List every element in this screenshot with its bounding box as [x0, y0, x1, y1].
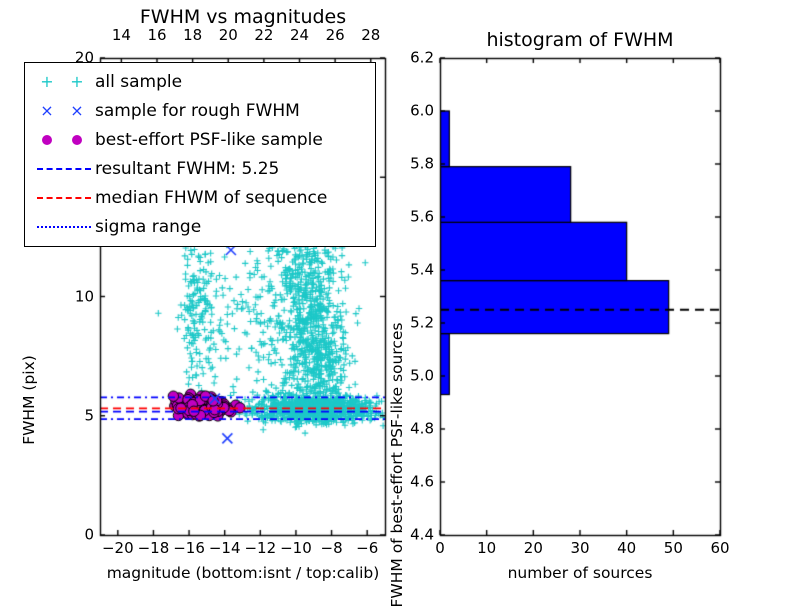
tick-label: 4.6 [410, 475, 434, 490]
legend-circle-marker [42, 135, 52, 145]
tick-label: −6 [356, 541, 378, 556]
tick-label: −8 [321, 541, 343, 556]
tick-label: 30 [570, 541, 589, 556]
tick-label: 10 [75, 289, 94, 304]
legend-dashdot-icon [33, 215, 95, 239]
legend-cross-icon: ×× [33, 99, 95, 123]
tick-label: 20 [524, 541, 543, 556]
tick-label: 4.4 [410, 528, 434, 543]
tick-label: 20 [219, 28, 238, 43]
histogram-xaxis-label: number of sources [508, 566, 653, 582]
legend-plus-icon: ++ [33, 70, 95, 94]
tick-label: 0 [435, 541, 445, 556]
tick-label: 6.0 [410, 104, 434, 119]
tick-label: 4.8 [410, 422, 434, 437]
legend-item[interactable]: sigma range [25, 212, 375, 241]
tick-label: 18 [183, 28, 202, 43]
histogram-yaxis-label: FWHM of best-effort PSF-like sources [390, 322, 406, 607]
tick-label: 5.2 [410, 316, 434, 331]
scatter-legend[interactable]: ++all sample××sample for rough FWHMbest-… [24, 62, 376, 247]
legend-item-label: all sample [95, 72, 182, 92]
scatter-yaxis-label: FWHM (pix) [22, 355, 38, 445]
legend-circle-icon [33, 128, 95, 152]
tick-label: −14 [209, 541, 241, 556]
legend-item[interactable]: resultant FWHM: 5.25 [25, 154, 375, 183]
tick-label: −18 [138, 541, 170, 556]
tick-label: 50 [664, 541, 683, 556]
legend-item-label: resultant FWHM: 5.25 [95, 159, 279, 179]
legend-circle-marker [72, 135, 82, 145]
tick-label: −12 [244, 541, 276, 556]
tick-label: 5.4 [410, 263, 434, 278]
tick-label: 5.8 [410, 157, 434, 172]
tick-label: 40 [617, 541, 636, 556]
legend-item[interactable]: median FHWM of sequence [25, 183, 375, 212]
tick-label: −16 [173, 541, 205, 556]
legend-item[interactable]: best-effort PSF-like sample [25, 125, 375, 154]
tick-label: 22 [254, 28, 273, 43]
tick-label: 24 [290, 28, 309, 43]
legend-plus-marker: + [70, 74, 83, 90]
tick-label: −10 [280, 541, 312, 556]
tick-label: 6.2 [410, 51, 434, 66]
tick-label: 28 [361, 28, 380, 43]
tick-label: 0 [84, 528, 94, 543]
legend-line-dashed [37, 197, 91, 199]
tick-label: 5.0 [410, 369, 434, 384]
tick-label: 26 [326, 28, 345, 43]
legend-item-label: sample for rough FWHM [95, 101, 300, 121]
tick-label: −20 [102, 541, 134, 556]
legend-item-label: best-effort PSF-like sample [95, 130, 323, 150]
legend-item[interactable]: ××sample for rough FWHM [25, 96, 375, 125]
tick-label: 5 [84, 408, 94, 423]
figure-canvas-root: FWHM vs magnitudes magnitude (bottom:isn… [0, 0, 800, 600]
histogram-panel-title: histogram of FWHM [486, 31, 673, 50]
legend-line-dashdot [37, 226, 91, 228]
tick-label: 10 [477, 541, 496, 556]
tick-label: 14 [112, 28, 131, 43]
legend-item-label: sigma range [95, 217, 201, 237]
tick-label: 16 [147, 28, 166, 43]
legend-cross-marker: × [70, 103, 83, 119]
legend-line-dashed [37, 168, 91, 170]
tick-label: 5.6 [410, 210, 434, 225]
legend-dashed-icon [33, 157, 95, 181]
legend-item[interactable]: ++all sample [25, 67, 375, 96]
legend-dashed-icon [33, 186, 95, 210]
legend-cross-marker: × [40, 103, 53, 119]
legend-item-label: median FHWM of sequence [95, 188, 327, 208]
tick-label: 60 [710, 541, 729, 556]
scatter-xaxis-label: magnitude (bottom:isnt / top:calib) [107, 566, 380, 582]
legend-plus-marker: + [40, 74, 53, 90]
scatter-panel-title: FWHM vs magnitudes [140, 8, 346, 27]
